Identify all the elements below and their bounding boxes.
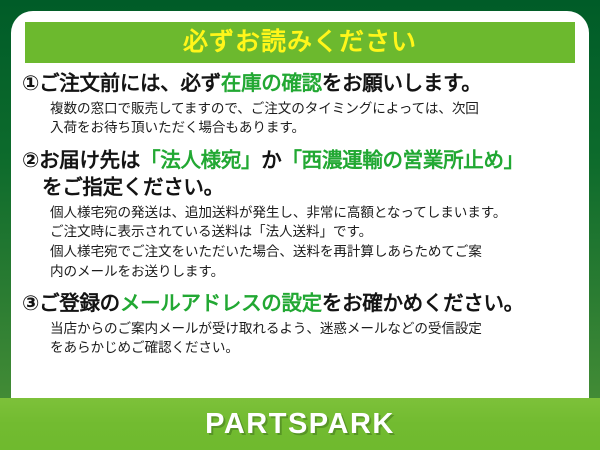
notice-section-2: ②お届け先は「法人様宛」か「西濃運輸の営業所止め」 をご指定ください。 個人様宅… — [11, 148, 589, 282]
section-1-marker: ① — [22, 72, 39, 95]
notice-section-3: ③ご登録のメールアドレスの設定をお確かめください。 当店からのご案内メールが受け… — [11, 291, 589, 358]
section-2-body-line-1: 個人様宅宛の発送は、追加送料が発生し、非常に高額となってしまいます。 — [50, 203, 583, 223]
section-2-body: 個人様宅宛の発送は、追加送料が発生し、非常に高額となってしまいます。 ご注文時に… — [22, 203, 583, 282]
section-3-heading-highlight: メールアドレスの設定 — [120, 292, 322, 315]
section-1-body: 複数の窓口で販売してますので、ご注文のタイミングによっては、次回 入荷をお待ち頂… — [22, 99, 583, 139]
section-2-body-line-4: 内のメールをお送りします。 — [50, 262, 583, 282]
brand-name: PARTSPARK — [205, 410, 395, 439]
notice-panel: 必ずお読みください ①ご注文前には、必ず在庫の確認をお願いします。 複数の窓口で… — [11, 11, 589, 450]
header-banner: 必ずお読みください — [25, 22, 575, 63]
section-1-heading: ①ご注文前には、必ず在庫の確認をお願いします。 — [22, 71, 583, 98]
section-3-heading-part-3: をお確かめください。 — [322, 292, 524, 315]
section-3-marker: ③ — [22, 292, 39, 315]
section-1-body-line-1: 複数の窓口で販売してますので、ご注文のタイミングによっては、次回 — [50, 99, 583, 119]
section-1-heading-highlight: 在庫の確認 — [221, 72, 322, 95]
section-2-marker: ② — [22, 149, 39, 172]
section-2-heading-highlight-2: 「西濃運輸の営業所止め」 — [281, 149, 523, 172]
section-2-heading-highlight-1: 「法人様宛」 — [140, 149, 261, 172]
section-2-body-line-3: 個人様宅宛でご注文をいただいた場合、送料を再計算しあらためてご案 — [50, 242, 583, 262]
section-2-heading: ②お届け先は「法人様宛」か「西濃運輸の営業所止め」 をご指定ください。 — [22, 148, 583, 201]
section-3-body-line-1: 当店からのご案内メールが受け取れるよう、迷惑メールなどの受信設定 — [50, 319, 583, 339]
section-3-body: 当店からのご案内メールが受け取れるよう、迷惑メールなどの受信設定 をあらかじめご… — [22, 319, 583, 359]
notice-section-1: ①ご注文前には、必ず在庫の確認をお願いします。 複数の窓口で販売してますので、ご… — [11, 71, 589, 138]
page-title: 必ずお読みください — [183, 30, 417, 55]
section-2-heading-part-1: お届け先は — [39, 149, 140, 172]
section-2-body-line-2: ご注文時に表示されている送料は「法人送料」です。 — [50, 222, 583, 242]
notice-frame: 必ずお読みください ①ご注文前には、必ず在庫の確認をお願いします。 複数の窓口で… — [0, 0, 600, 450]
section-2-heading-part-3: か — [261, 149, 281, 172]
section-1-body-line-2: 入荷をお待ち頂いただく場合もあります。 — [50, 118, 583, 138]
footer-brand-bar: PARTSPARK — [0, 398, 600, 450]
section-2-heading-line-2: をご指定ください。 — [22, 175, 583, 202]
notice-content: ①ご注文前には、必ず在庫の確認をお願いします。 複数の窓口で販売してますので、ご… — [11, 69, 589, 358]
section-3-heading-part-1: ご登録の — [39, 292, 120, 315]
section-3-body-line-2: をあらかじめご確認ください。 — [50, 338, 583, 358]
section-3-heading: ③ご登録のメールアドレスの設定をお確かめください。 — [22, 291, 583, 318]
section-1-heading-part-1: ご注文前には、必ず — [39, 72, 221, 95]
section-1-heading-part-3: をお願いします。 — [322, 72, 482, 95]
